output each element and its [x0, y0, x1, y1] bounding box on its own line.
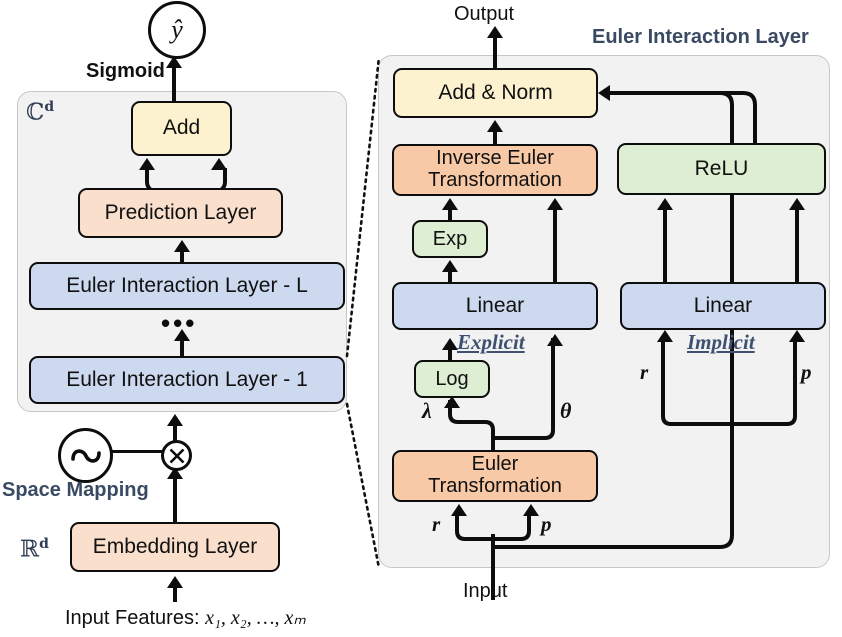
exp-to-inverse-euler-arrow — [442, 198, 458, 210]
inverse-euler-to-addnorm-line — [493, 130, 497, 144]
diagram-root: ŷ Sigmoid ℂd Add Prediction Layer Euler … — [0, 0, 842, 637]
real-space-superscript: d — [39, 536, 49, 552]
sine-wave-glyph — [70, 445, 102, 467]
addnorm-to-output-arrow — [487, 26, 503, 38]
box-euler-interaction-layer-L[interactable]: Euler Interaction Layer - L — [29, 262, 345, 310]
box-add-norm-label: Add & Norm — [438, 82, 552, 104]
theta-label: θ — [560, 398, 571, 424]
box-embedding-layer[interactable]: Embedding Layer — [70, 522, 280, 572]
input-features-text: Input Features: — [65, 607, 200, 629]
addnorm-residual-arrow — [598, 85, 610, 101]
features-to-embedding-arrow — [167, 576, 183, 588]
sine-wave-icon — [58, 428, 113, 483]
box-add[interactable]: Add — [131, 101, 232, 156]
box-exp-label: Exp — [433, 229, 467, 250]
input-features-label: Input Features: x₁, x₂, …, xₘ — [65, 605, 306, 630]
linear-implicit-to-relu-arrow-left — [657, 198, 673, 210]
complex-space-symbol: ℂ — [26, 100, 44, 126]
implicit-p-line — [793, 340, 797, 400]
branch-implicit-label: Implicit — [687, 330, 755, 355]
implicit-r-arrow — [657, 330, 673, 342]
r-left-label: r — [432, 512, 440, 537]
p-left-label: p — [541, 512, 552, 537]
box-inverse-euler-line1: Inverse Euler — [436, 148, 554, 170]
complex-space-label: ℂd — [26, 99, 54, 126]
box-linear-implicit[interactable]: Linear — [620, 282, 826, 330]
theta-to-inverse-euler-arrow — [547, 198, 563, 210]
box-add-norm[interactable]: Add & Norm — [393, 68, 598, 118]
box-inverse-euler-transformation[interactable]: Inverse Euler Transformation — [392, 144, 598, 196]
box-log-label: Log — [435, 369, 468, 390]
real-space-symbol: ℝ — [20, 537, 39, 563]
box-prediction-layer-label: Prediction Layer — [105, 202, 257, 224]
box-add-label: Add — [163, 117, 200, 139]
implicit-p-arrow — [789, 330, 805, 342]
complex-space-superscript: d — [44, 99, 54, 115]
input-features-vars: x₁, x₂, …, xₘ — [205, 607, 306, 629]
input-label: Input — [463, 580, 507, 603]
box-euler-transformation[interactable]: Euler Transformation — [392, 450, 598, 502]
stack-ellipsis: ••• — [161, 310, 197, 336]
box-embedding-layer-label: Embedding Layer — [93, 536, 258, 558]
output-yhat-node: ŷ — [148, 1, 206, 59]
p-right-label: p — [801, 360, 812, 385]
box-euler-interaction-layer-1-label: Euler Interaction Layer - 1 — [66, 369, 308, 391]
box-linear-implicit-label: Linear — [694, 295, 752, 317]
box-relu[interactable]: ReLU — [617, 143, 826, 195]
box-log[interactable]: Log — [414, 360, 490, 398]
elementwise-multiply-icon — [161, 440, 192, 471]
real-space-label: ℝd — [20, 536, 49, 563]
log-to-linear-arrow — [442, 338, 458, 350]
features-to-embedding-line — [173, 586, 177, 602]
box-euler-transformation-line1: Euler — [472, 454, 519, 476]
r-right-label: r — [640, 360, 648, 385]
space-mapping-label: Space Mapping — [2, 479, 149, 502]
box-linear-explicit[interactable]: Linear — [392, 282, 598, 330]
box-euler-transformation-line2: Transformation — [428, 476, 562, 498]
euler-transformation-arrow-p — [523, 504, 539, 516]
inverse-euler-to-addnorm-arrow — [487, 120, 503, 132]
sigmoid-label: Sigmoid — [86, 60, 165, 83]
eil-L-to-prediction-arrow — [174, 240, 190, 252]
box-euler-interaction-layer-L-label: Euler Interaction Layer - L — [66, 275, 308, 297]
linear-implicit-to-relu-arrow-right — [789, 198, 805, 210]
box-prediction-layer[interactable]: Prediction Layer — [78, 188, 283, 238]
add-input-arrow-left — [139, 158, 155, 170]
lambda-label: λ — [422, 398, 432, 424]
implicit-r-line — [661, 340, 665, 400]
box-linear-explicit-label: Linear — [466, 295, 524, 317]
theta-arrow — [547, 334, 563, 346]
right-panel-title: Euler Interaction Layer — [592, 26, 809, 49]
box-inverse-euler-line2: Transformation — [428, 170, 562, 192]
branch-explicit-label: Explicit — [457, 330, 525, 355]
addnorm-to-output-line — [493, 36, 497, 68]
multiply-glyph — [166, 445, 188, 467]
linear-implicit-to-relu-line-left — [663, 208, 667, 284]
box-relu-label: ReLU — [695, 158, 749, 180]
box-exp[interactable]: Exp — [412, 220, 488, 258]
linear-implicit-to-relu-line-right — [795, 208, 799, 284]
mapping-to-eil-1-arrow — [167, 414, 183, 426]
sine-to-multiplier-line — [106, 450, 163, 453]
output-yhat-label: ŷ — [171, 15, 183, 45]
embedding-to-multiplier-line — [173, 478, 177, 525]
add-input-arrow-right — [211, 158, 227, 170]
euler-transformation-arrow-r — [451, 504, 467, 516]
theta-to-inverse-euler-line — [553, 208, 557, 284]
output-label: Output — [454, 3, 514, 26]
box-euler-interaction-layer-1[interactable]: Euler Interaction Layer - 1 — [29, 356, 345, 404]
linear-explicit-to-exp-arrow — [442, 260, 458, 272]
